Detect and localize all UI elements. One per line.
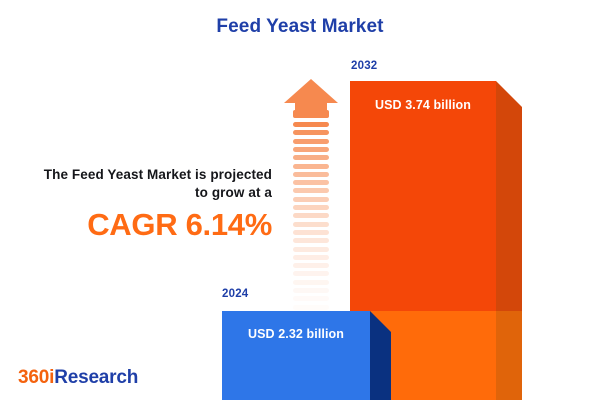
arrow-stripe <box>293 222 329 227</box>
arrow-stripe <box>293 205 329 210</box>
arrow-stripe <box>293 305 329 310</box>
arrow-stripe <box>293 188 329 193</box>
page-title: Feed Yeast Market <box>0 16 600 38</box>
arrow-stripe <box>293 280 329 285</box>
cagr-callout: The Feed Yeast Market is projected to gr… <box>18 166 272 244</box>
arrow-stripe <box>293 263 329 268</box>
arrow-stripe <box>293 122 329 127</box>
arrow-stripe <box>293 172 329 177</box>
arrow-up-head-icon <box>283 78 339 112</box>
arrow-stripe <box>293 213 329 218</box>
bar-2024-side-face <box>370 311 391 400</box>
arrow-stripe <box>293 230 329 235</box>
growth-arrow-icon <box>283 78 339 306</box>
cagr-value: CAGR 6.14% <box>18 206 272 244</box>
arrow-stripe <box>293 139 329 144</box>
callout-line-1: The Feed Yeast Market is projected <box>18 166 272 184</box>
arrow-stripe <box>293 197 329 202</box>
infographic-canvas: Feed Yeast Market The Feed Yeast Market … <box>0 0 600 400</box>
bar-value-2032: USD 3.74 billion <box>350 98 496 112</box>
arrow-stripe <box>293 271 329 276</box>
arrow-stripe <box>293 238 329 243</box>
bar-label-year-2024: 2024 <box>222 288 248 300</box>
arrow-stripe <box>293 288 329 293</box>
bar-2024-front-face <box>222 311 370 400</box>
arrow-stripe <box>293 180 329 185</box>
arrow-stripe <box>293 164 329 169</box>
arrow-stripe <box>293 296 329 301</box>
arrow-neck <box>293 110 329 118</box>
bar-2032-side-face-lower <box>496 311 522 400</box>
arrow-stripe <box>293 255 329 260</box>
bar-label-year-2032: 2032 <box>351 60 377 72</box>
arrow-stripe <box>293 247 329 252</box>
logo-text-orange: 360i <box>18 367 54 388</box>
callout-line-2: to grow at a <box>18 184 272 202</box>
arrow-stripe <box>293 130 329 135</box>
arrow-stripe <box>293 155 329 160</box>
arrow-stripe <box>293 147 329 152</box>
brand-logo[interactable]: 360iResearch <box>18 367 138 389</box>
bar-value-2024: USD 2.32 billion <box>222 327 370 341</box>
logo-text-blue: Research <box>54 367 138 388</box>
